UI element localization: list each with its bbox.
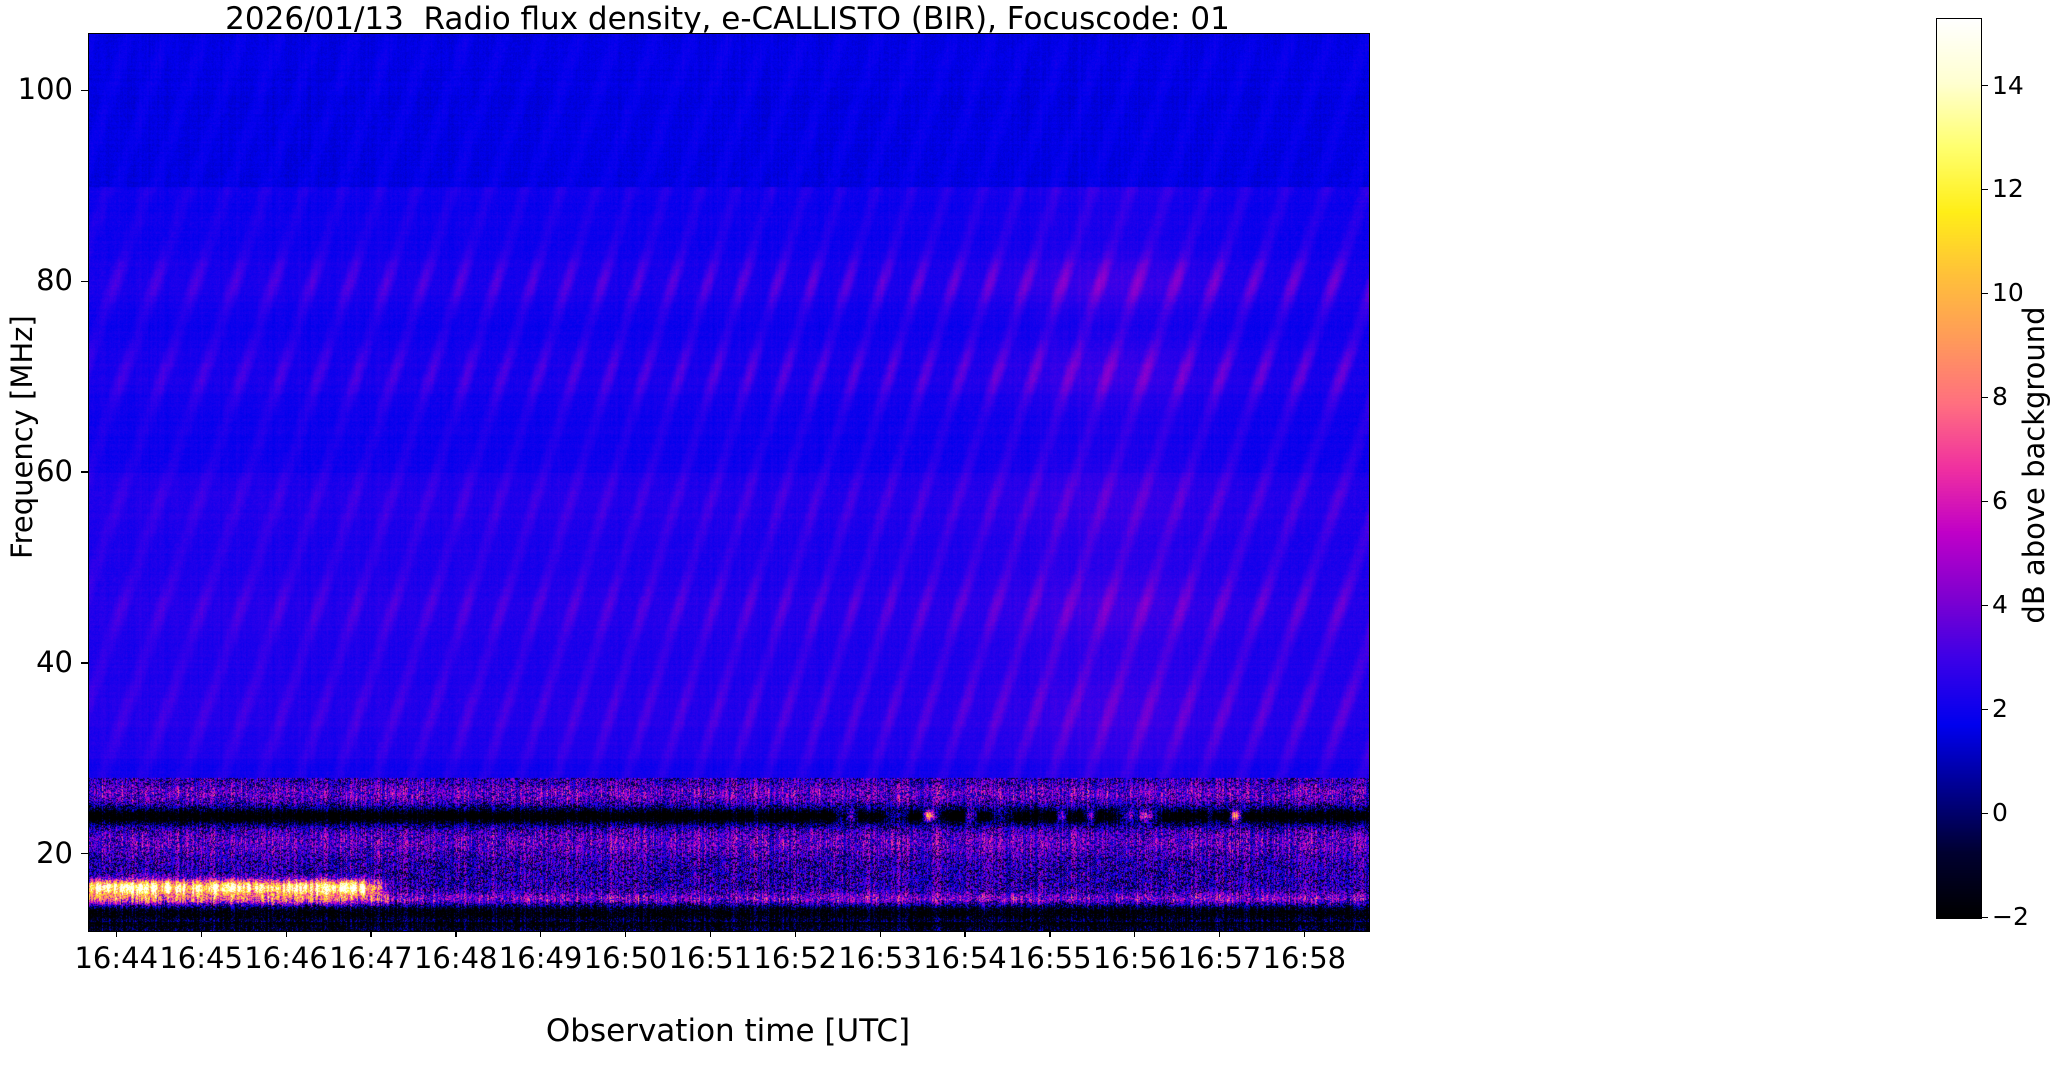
y-tick-label: 100 xyxy=(0,75,73,104)
colorbar-tick-mark xyxy=(1981,189,1988,190)
x-tick-mark xyxy=(1219,930,1220,937)
colorbar-tick-mark xyxy=(1981,501,1988,502)
x-tick-mark xyxy=(625,930,626,937)
x-tick-mark xyxy=(1049,930,1050,937)
y-tick-mark xyxy=(81,90,88,91)
x-tick-mark xyxy=(286,930,287,937)
colorbar-tick-mark xyxy=(1981,397,1988,398)
y-tick-label: 80 xyxy=(0,266,73,295)
y-tick-label: 60 xyxy=(0,457,73,486)
y-tick-mark xyxy=(81,471,88,472)
x-tick-mark xyxy=(116,930,117,937)
colorbar-label: dB above background xyxy=(2017,265,2051,665)
colorbar xyxy=(1936,18,1982,919)
y-tick-label: 40 xyxy=(0,648,73,677)
colorbar-tick-mark xyxy=(1981,605,1988,606)
x-tick-mark xyxy=(795,930,796,937)
x-tick-mark xyxy=(455,930,456,937)
colorbar-tick-label: 14 xyxy=(1992,73,2066,98)
x-tick-mark xyxy=(540,930,541,937)
x-tick-mark xyxy=(964,930,965,937)
x-tick-mark xyxy=(710,930,711,937)
colorbar-tick-label: −2 xyxy=(1992,904,2066,929)
y-tick-mark xyxy=(81,853,88,854)
colorbar-tick-mark xyxy=(1981,813,1988,814)
colorbar-tick-mark xyxy=(1981,85,1988,86)
colorbar-tick-label: 0 xyxy=(1992,800,2066,825)
spectrogram-axes xyxy=(88,33,1370,932)
colorbar-tick-label: 12 xyxy=(1992,176,2066,201)
spectrogram-figure: 2026/01/13 Radio flux density, e-CALLIST… xyxy=(0,0,2066,1067)
colorbar-gradient xyxy=(1937,19,1981,918)
x-tick-mark xyxy=(201,930,202,937)
figure-title: 2026/01/13 Radio flux density, e-CALLIST… xyxy=(0,2,1455,36)
y-tick-mark xyxy=(81,281,88,282)
x-tick-mark xyxy=(880,930,881,937)
x-tick-mark xyxy=(1304,930,1305,937)
x-tick-label: 16:58 xyxy=(1214,944,1394,973)
x-axis-label: Observation time [UTC] xyxy=(88,1013,1368,1049)
x-tick-mark xyxy=(370,930,371,937)
x-tick-mark xyxy=(1134,930,1135,937)
colorbar-tick-mark xyxy=(1981,917,1988,918)
y-tick-mark xyxy=(81,662,88,663)
colorbar-tick-mark xyxy=(1981,709,1988,710)
spectrogram-image xyxy=(89,34,1369,931)
colorbar-tick-mark xyxy=(1981,293,1988,294)
y-tick-label: 20 xyxy=(0,839,73,868)
colorbar-tick-label: 2 xyxy=(1992,696,2066,721)
